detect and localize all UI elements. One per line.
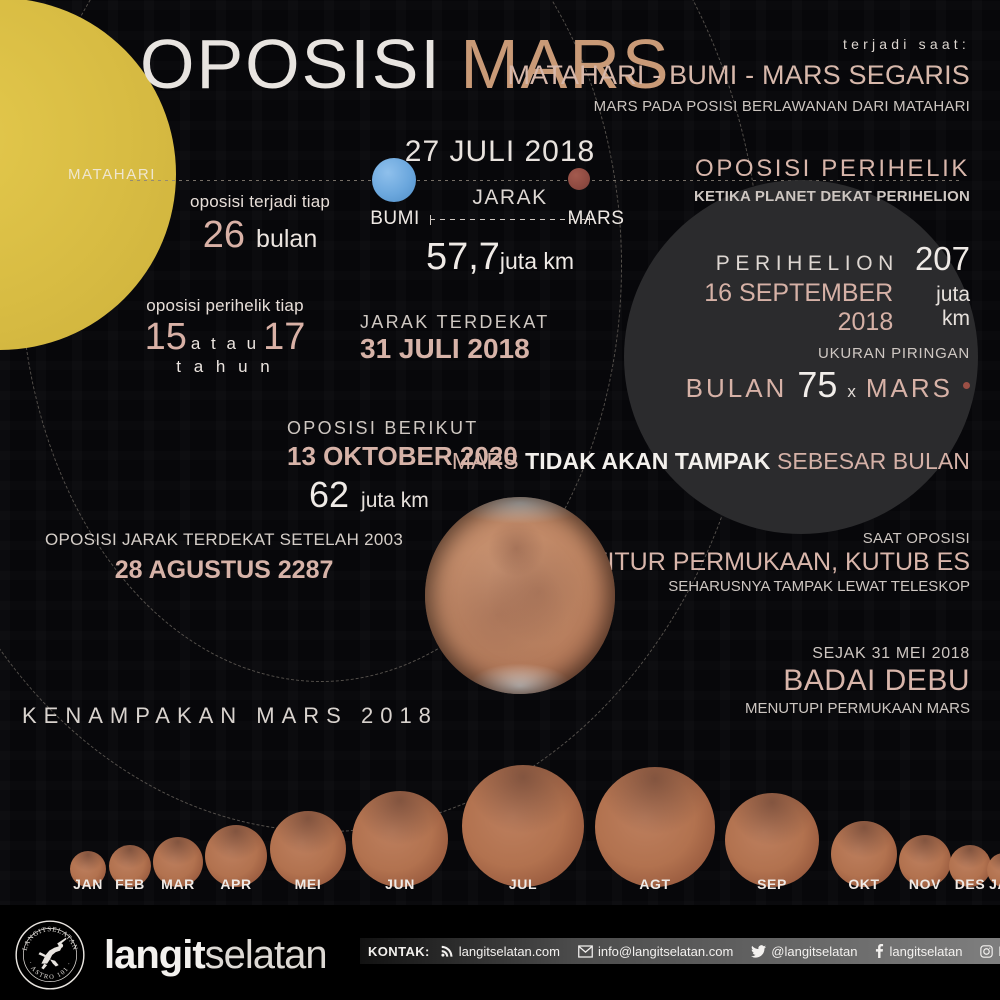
ukuran-mars-label: MARS	[866, 373, 953, 404]
badai-main-label: BADAI DEBU	[745, 664, 970, 698]
email-icon	[578, 945, 593, 958]
stat-26-number: 26	[203, 214, 245, 257]
mars-disk-sep-8	[725, 793, 819, 887]
mars-dot-icon	[963, 382, 970, 389]
badai-sub-label: MENUTUPI PERMUKAAN MARS	[745, 700, 970, 717]
distance-unit: juta km	[500, 248, 574, 274]
month-label-sep-8: SEP	[757, 876, 787, 892]
month-label-jun-5: JUN	[385, 876, 415, 892]
berikut-date: 13 OKTOBER 2020	[287, 441, 518, 472]
fitur-sub-label: SEHARUSNYA TAMPAK LEWAT TELESKOP	[592, 578, 970, 595]
facebook-text: langitselatan	[889, 944, 962, 959]
badai-top-label: SEJAK 31 MEI 2018	[745, 645, 970, 663]
dust-storm-block: SEJAK 31 MEI 2018 BADAI DEBU MENUTUPI PE…	[745, 645, 970, 717]
perihelic-interval-stat: oposisi perihelik tiap 15 a t a u 17 t a…	[125, 296, 325, 377]
brand-light-part: selatan	[205, 933, 327, 977]
closest-after-2003-block: OPOSISI JARAK TERDEKAT SETELAH 2003 28 A…	[45, 530, 403, 585]
month-label-jan-0: JAN	[73, 876, 103, 892]
instagram-icon	[980, 945, 993, 958]
tidak-emphasis: TIDAK AKAN TAMPAK	[525, 448, 770, 474]
svg-text:· ASTRO 101 ·: · ASTRO 101 ·	[26, 960, 73, 980]
terdekat-label: JARAK TERDEKAT	[360, 312, 550, 333]
email-text: info@langitselatan.com	[598, 944, 733, 959]
month-label-jul-6: JUL	[509, 876, 537, 892]
stat-15-unit: t a h u n	[125, 357, 325, 377]
brand-bold-part: langit	[104, 933, 205, 977]
fitur-top-label: SAAT OPOSISI	[592, 530, 970, 547]
stat-15-joiner: a t a u	[191, 334, 259, 354]
logo-ring-top-text: LANGITSELATAN	[22, 926, 79, 951]
month-label-des-11: DES	[955, 876, 986, 892]
opposition-date: 27 JULI 2018	[380, 135, 620, 169]
contact-bar: KONTAK: langitselatan.cominfo@langitsela…	[360, 938, 1000, 964]
twitter-icon	[751, 945, 766, 958]
distance-value-row: 57,7juta km	[380, 236, 620, 279]
title-part-oposisi: OPOSISI	[140, 25, 442, 103]
logo-ring-bottom-text: · ASTRO 101 ·	[26, 960, 73, 980]
rss-text: langitselatan.com	[459, 944, 560, 959]
month-label-mar-2: MAR	[161, 876, 195, 892]
month-label-mei-4: MEI	[295, 876, 322, 892]
berikut-distance: 62	[309, 474, 349, 516]
berlawanan-subtext: MARS PADA POSISI BERLAWANAN DARI MATAHAR…	[594, 98, 970, 115]
earth-label: BUMI	[350, 208, 440, 230]
ukuran-multiplier: 75	[797, 364, 837, 406]
perihelion-word: PERIHELION	[716, 252, 899, 276]
langitselatan-seal-logo: LANGITSELATAN · ASTRO 101 ·	[14, 919, 86, 991]
month-label-nov-10: NOV	[909, 876, 941, 892]
mars-not-as-big-statement: MARS TIDAK AKAN TAMPAK SEBESAR BULAN	[452, 448, 970, 475]
appearance-heading: KENAMPAKAN MARS 2018	[22, 703, 438, 729]
distance-measure-bar	[430, 215, 590, 225]
mars-disk-jul-6	[462, 765, 584, 887]
oposisi-perihelik-title: OPOSISI PERIHELIK	[695, 155, 970, 183]
month-label-feb-1: FEB	[115, 876, 145, 892]
contact-facebook[interactable]: langitselatan	[875, 944, 962, 959]
setelah2003-label: OPOSISI JARAK TERDEKAT SETELAH 2003	[45, 530, 403, 550]
contact-twitter[interactable]: @langitselatan	[751, 944, 857, 959]
disk-size-block: UKURAN PIRINGAN BULAN 75 x MARS	[660, 345, 970, 406]
jarak-caption: JARAK	[420, 186, 600, 210]
logo-centaur-figure	[38, 938, 66, 970]
month-label-apr-3: APR	[220, 876, 251, 892]
perihelion-number: 207	[915, 240, 970, 278]
mars-disk-jun-5	[352, 791, 448, 887]
contact-rss[interactable]: langitselatan.com	[440, 944, 560, 959]
stat-26-unit: bulan	[256, 225, 317, 254]
infographic-canvas: MATAHARI OPOSISI MARS terjadi saat: MATA…	[0, 0, 1000, 1000]
segaris-headline: MATAHARI - BUMI - MARS SEGARIS	[507, 60, 970, 91]
ukuran-times-symbol: x	[847, 382, 856, 402]
berikut-label: OPOSISI BERIKUT	[287, 418, 518, 439]
distance-bar-line	[430, 219, 590, 220]
tidak-suffix: SEBESAR BULAN	[770, 448, 970, 474]
mars-disk-agt-7	[595, 767, 715, 887]
terjadi-saat-label: terjadi saat:	[843, 36, 970, 52]
ukuran-bulan-label: BULAN	[686, 373, 788, 404]
perihelion-unit: juta km	[907, 283, 970, 331]
contact-email[interactable]: info@langitselatan.com	[578, 944, 733, 959]
ukuran-piringan-caption: UKURAN PIRINGAN	[660, 345, 970, 362]
terdekat-date: 31 JULI 2018	[360, 333, 550, 365]
oposisi-perihelik-subtitle: KETIKA PLANET DEKAT PERIHELION	[694, 188, 970, 205]
surface-feature-block: SAAT OPOSISI FITUR PERMUKAAN, KUTUB ES S…	[592, 530, 970, 595]
distance-bar-cap-right	[589, 215, 590, 225]
fitur-main-label: FITUR PERMUKAAN, KUTUB ES	[592, 548, 970, 577]
closest-distance-block: JARAK TERDEKAT 31 JULI 2018	[360, 312, 550, 365]
distance-value: 57,7	[426, 236, 500, 278]
month-label-jan-12: JAN	[989, 876, 1000, 892]
month-label-okt-9: OKT	[848, 876, 879, 892]
rss-icon	[440, 944, 454, 958]
twitter-text: @langitselatan	[771, 944, 857, 959]
earth-planet-icon	[372, 158, 416, 202]
opposition-interval-stat: oposisi terjadi tiap 26 bulan	[160, 192, 360, 257]
stat-15-number-first: 15	[145, 316, 187, 359]
berikut-distance-unit: juta km	[361, 489, 429, 513]
stat-15-number-second: 17	[263, 316, 305, 359]
setelah2003-date: 28 AGUSTUS 2287	[45, 556, 403, 585]
brand-wordmark: langitselatan	[104, 933, 327, 978]
next-opposition-block: OPOSISI BERIKUT 13 OKTOBER 2020 62 juta …	[287, 418, 518, 516]
distance-bar-cap-left	[430, 215, 431, 225]
kontak-label: KONTAK:	[368, 944, 430, 959]
svg-text:LANGITSELATAN: LANGITSELATAN	[22, 926, 79, 951]
perihelion-stat-block: PERIHELION 207 16 SEPTEMBER 2018 juta km	[660, 240, 970, 337]
stat-26-caption: oposisi terjadi tiap	[160, 192, 360, 212]
mars-telescope-image	[425, 497, 615, 694]
contact-instagram[interactable]: langitselatanmedia	[980, 944, 1000, 959]
perihelion-date: 16 SEPTEMBER 2018	[660, 279, 893, 337]
month-label-agt-7: AGT	[639, 876, 670, 892]
stat-15-caption: oposisi perihelik tiap	[125, 296, 325, 316]
facebook-icon	[875, 944, 884, 958]
